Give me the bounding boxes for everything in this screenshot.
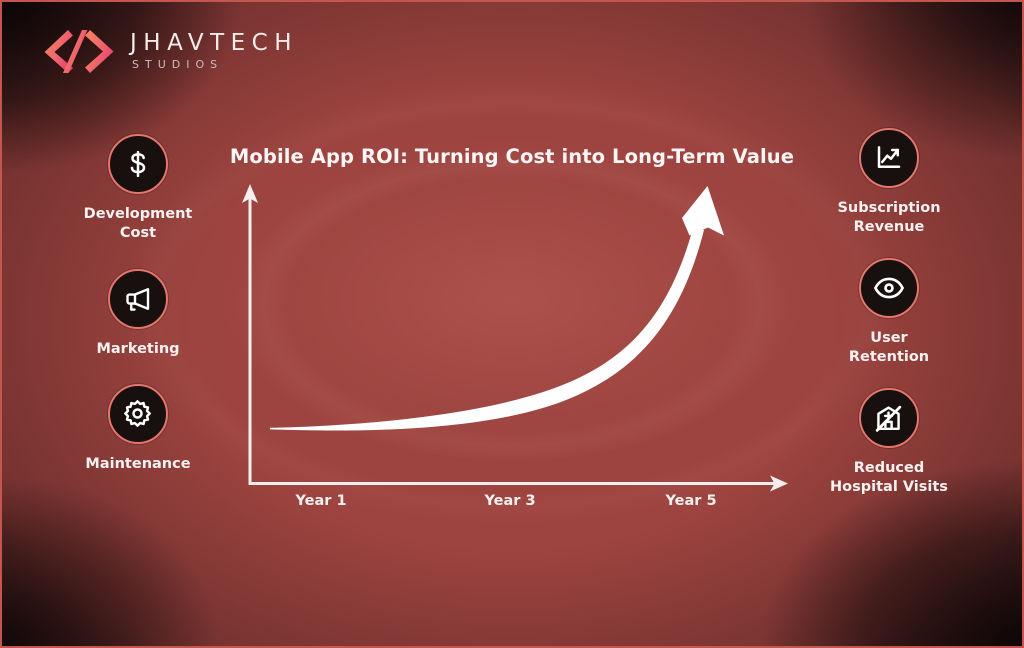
eye-icon — [859, 258, 919, 318]
return-item-subscription-revenue[interactable]: Subscription Revenue — [837, 128, 940, 236]
cost-item-development-cost[interactable]: Development Cost — [84, 134, 193, 242]
line-chart-icon — [859, 128, 919, 188]
jhavtech-chevron-mark-icon — [42, 28, 116, 74]
roi-growth-chart — [230, 172, 810, 512]
x-tick-year-5: Year 5 — [665, 493, 716, 509]
gear-icon — [108, 384, 168, 444]
return-item-label: Reduced Hospital Visits — [830, 459, 948, 496]
x-tick-year-3: Year 3 — [484, 493, 535, 509]
return-benefits-list: Subscription Revenue User Retention — [796, 128, 982, 496]
infographic-canvas: JHAVTECH STUDIOS Mobile App ROI: Turning… — [0, 0, 1024, 648]
x-axis-tick-labels: Year 1 Year 3 Year 5 — [230, 493, 810, 519]
dollar-sign-icon — [108, 134, 168, 194]
return-item-label: User Retention — [849, 329, 929, 366]
x-axis — [250, 476, 788, 492]
cost-item-label: Maintenance — [85, 455, 190, 474]
y-axis — [242, 184, 258, 485]
x-tick-year-1: Year 1 — [295, 493, 346, 509]
cost-item-label: Marketing — [96, 340, 179, 359]
cost-factors-list: Development Cost Marketing Maintenan — [50, 134, 226, 473]
brand-wordmark: JHAVTECH STUDIOS — [130, 31, 298, 71]
chart-svg — [230, 172, 810, 512]
growth-curve — [270, 186, 724, 431]
hospital-crossed-out-icon — [859, 388, 919, 448]
brand-name: JHAVTECH — [130, 31, 298, 55]
return-item-reduced-hospital-visits[interactable]: Reduced Hospital Visits — [830, 388, 948, 496]
brand-logo: JHAVTECH STUDIOS — [42, 28, 298, 74]
return-item-label: Subscription Revenue — [837, 199, 940, 236]
cost-item-marketing[interactable]: Marketing — [96, 269, 179, 359]
brand-tagline: STUDIOS — [132, 59, 298, 71]
cost-item-label: Development Cost — [84, 205, 193, 242]
return-item-user-retention[interactable]: User Retention — [849, 258, 929, 366]
cost-item-maintenance[interactable]: Maintenance — [85, 384, 190, 474]
megaphone-icon — [108, 269, 168, 329]
